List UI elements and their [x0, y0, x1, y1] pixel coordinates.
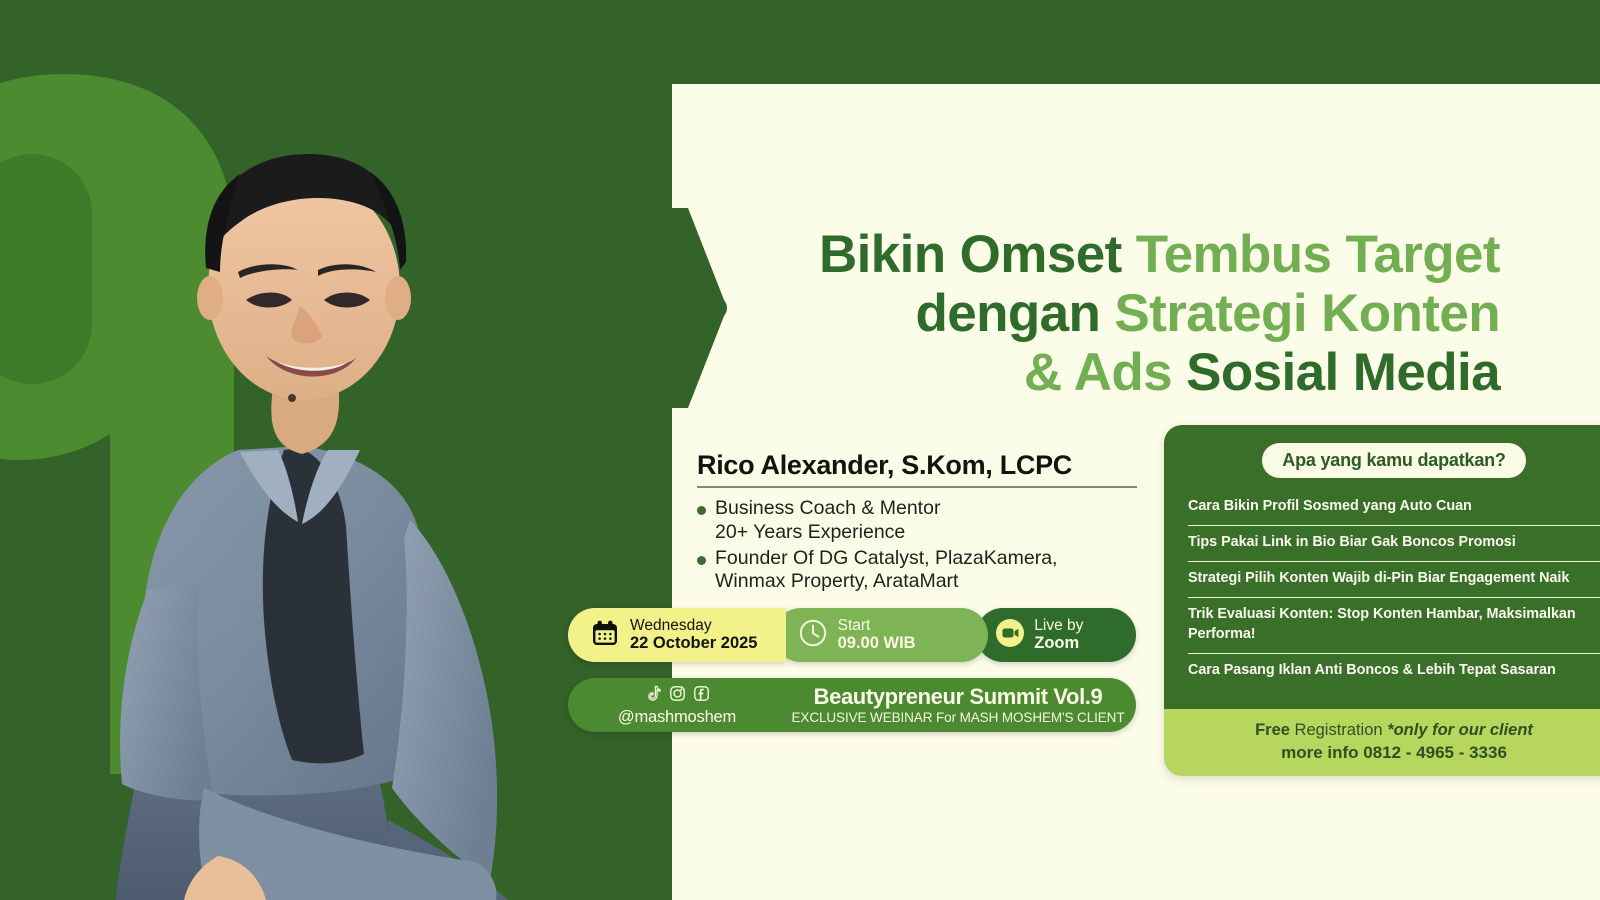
top-green-band: [0, 0, 1600, 84]
registration-footer: Free Registration *only for our client m…: [1164, 709, 1600, 776]
speaker-block: Rico Alexander, S.Kom, LCPC Business Coa…: [697, 450, 1137, 596]
time-value: 09.00 WIB: [838, 634, 916, 652]
list-item: Cara Bikin Profil Sosmed yang Auto Cuan: [1188, 490, 1600, 525]
schedule-strip: Live by Zoom Start 09.00 WIB: [568, 608, 1136, 662]
headline-line-1: Bikin Omset Tembus Target: [710, 228, 1500, 281]
event-name-group: Beautypreneur Summit Vol.9 EXCLUSIVE WEB…: [786, 685, 1136, 724]
list-item: Cara Pasang Iklan Anti Boncos & Lebih Te…: [1188, 653, 1600, 689]
headline-line-2-light: Strategi Konten: [1114, 284, 1500, 343]
benefits-card: Apa yang kamu dapatkan? Cara Bikin Profi…: [1164, 425, 1600, 776]
list-item: Strategi Pilih Konten Wajib di-Pin Biar …: [1188, 561, 1600, 597]
list-item: Founder Of DG Catalyst, PlazaKamera, Win…: [697, 547, 1137, 595]
facebook-icon[interactable]: [693, 685, 710, 707]
page-title: Bikin Omset Tembus Target dengan Strateg…: [710, 228, 1500, 399]
headline-line-2: dengan Strategi Konten: [710, 287, 1500, 340]
headline-line-3-dark: Sosial Media: [1186, 343, 1500, 402]
speaker-name: Rico Alexander, S.Kom, LCPC: [697, 450, 1137, 488]
time-segment[interactable]: Start 09.00 WIB: [774, 608, 989, 662]
social-handle[interactable]: @mashmoshem: [618, 708, 736, 727]
social-icons: [645, 685, 710, 707]
credential-text: Founder Of DG Catalyst, PlazaKamera, Win…: [715, 547, 1057, 595]
date-day: Wednesday: [630, 617, 758, 634]
clock-icon: [798, 618, 828, 653]
event-subtitle: EXCLUSIVE WEBINAR For MASH MOSHEM'S CLIE…: [786, 710, 1130, 725]
list-item: Business Coach & Mentor 20+ Years Experi…: [697, 497, 1137, 545]
date-value: 22 October 2025: [630, 634, 758, 652]
benefits-body: Apa yang kamu dapatkan? Cara Bikin Profi…: [1164, 425, 1600, 709]
headline-line-1-light: Tembus Target: [1136, 225, 1500, 284]
registration-note: *only for our client: [1387, 721, 1533, 739]
bullet-dot: [697, 556, 706, 565]
instagram-icon[interactable]: [669, 685, 686, 707]
headline-line-2-dark: dengan: [915, 284, 1114, 343]
video-camera-icon: [996, 619, 1024, 652]
date-segment[interactable]: Wednesday 22 October 2025: [568, 608, 786, 662]
platform-value: Zoom: [1034, 634, 1083, 652]
speaker-credentials: Business Coach & Mentor 20+ Years Experi…: [697, 497, 1137, 594]
list-item: Tips Pakai Link in Bio Biar Gak Boncos P…: [1188, 525, 1600, 561]
speaker-portrait: [88, 120, 708, 900]
registration-free: Free: [1255, 721, 1290, 739]
social-summit-bar: @mashmoshem Beautypreneur Summit Vol.9 E…: [568, 678, 1136, 732]
platform-label: Live by: [1034, 617, 1083, 634]
event-title: Beautypreneur Summit Vol.9: [786, 685, 1130, 708]
calendar-icon: [590, 618, 620, 653]
poster-canvas: Bikin Omset Tembus Target dengan Strateg…: [0, 0, 1600, 900]
headline-line-3-light: & Ads: [1024, 343, 1186, 402]
credential-text: Business Coach & Mentor 20+ Years Experi…: [715, 497, 940, 545]
benefits-heading: Apa yang kamu dapatkan?: [1262, 443, 1525, 478]
list-item: Trik Evaluasi Konten: Stop Konten Hambar…: [1188, 597, 1600, 652]
bullet-dot: [697, 506, 706, 515]
time-label: Start: [838, 617, 916, 634]
headline-line-3: & Ads Sosial Media: [710, 346, 1500, 399]
platform-segment[interactable]: Live by Zoom: [976, 608, 1136, 662]
headline-line-1-dark: Bikin Omset: [819, 225, 1136, 284]
tiktok-icon[interactable]: [645, 685, 662, 707]
registration-label: Registration: [1290, 721, 1387, 739]
contact-info[interactable]: more info 0812 - 4965 - 3336: [1184, 743, 1600, 763]
social-handle-group: @mashmoshem: [568, 683, 786, 727]
